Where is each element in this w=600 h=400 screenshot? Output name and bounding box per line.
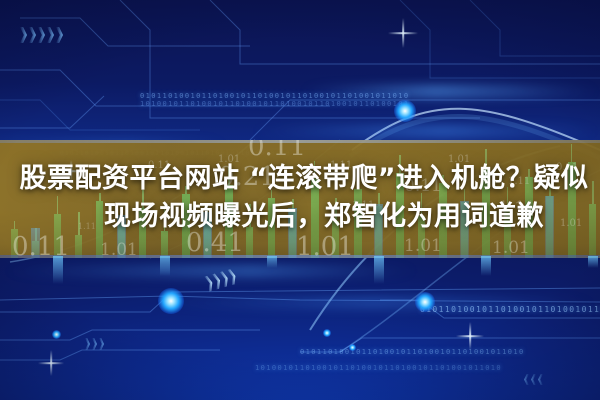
- banner-image: 0101101001011010010110100101101001011010…: [0, 0, 600, 400]
- vignette: [0, 0, 600, 400]
